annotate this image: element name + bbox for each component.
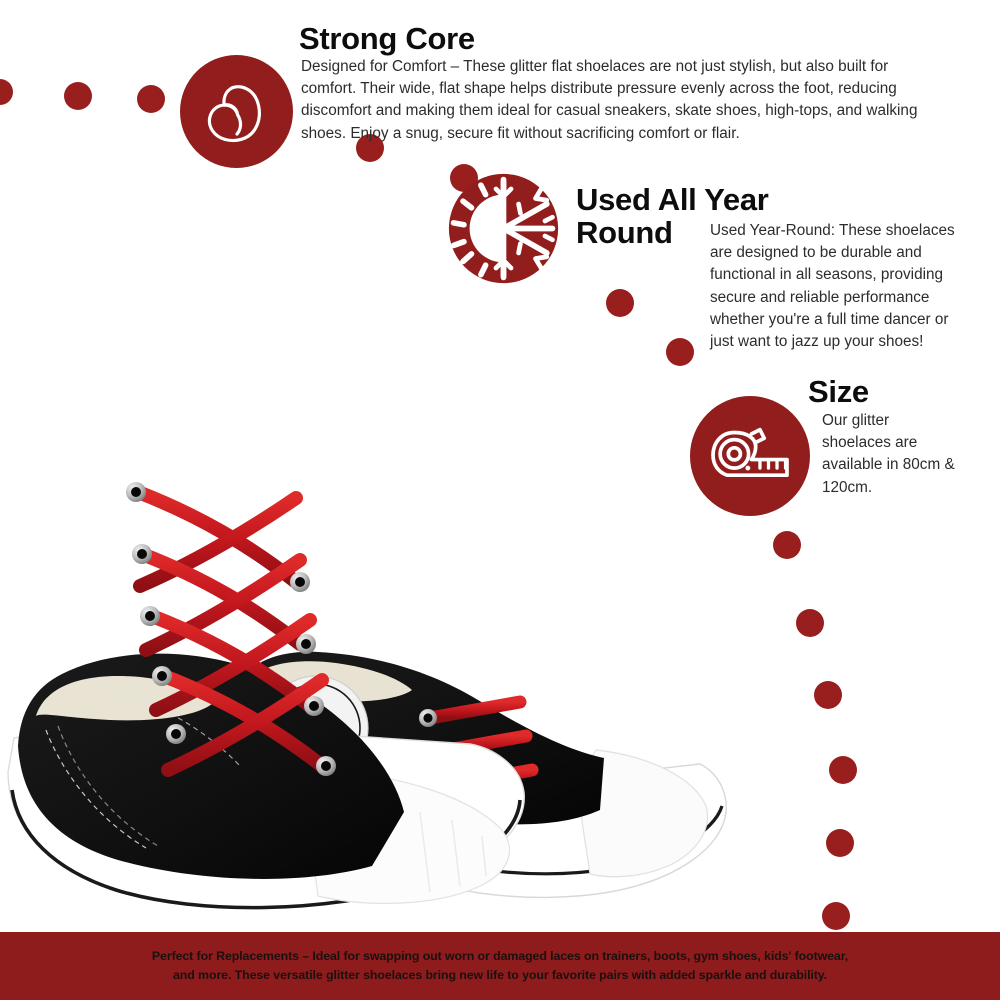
decorative-dot	[606, 289, 634, 317]
flexed-bicep-icon	[199, 74, 275, 150]
decorative-dot	[796, 609, 824, 637]
decorative-dot	[829, 756, 857, 784]
feature-icon-size	[690, 396, 810, 516]
feature-body-size: Our glitter shoelaces are available in 8…	[822, 410, 962, 499]
product-photo-sneakers	[0, 320, 770, 920]
infographic-canvas: Strong Core Designed for Comfort – These…	[0, 0, 1000, 1000]
feature-icon-strong-core	[180, 55, 293, 168]
feature-title-size: Size	[808, 375, 869, 408]
decorative-dot	[64, 82, 92, 110]
feature-body-used-all-year-round: Used Year-Round: These shoelaces are des…	[710, 220, 972, 353]
tape-measure-icon	[707, 424, 793, 488]
decorative-dot	[137, 85, 165, 113]
decorative-dot	[826, 829, 854, 857]
decorative-dot	[814, 681, 842, 709]
decorative-dot	[0, 79, 13, 105]
decorative-dot	[773, 531, 801, 559]
sun-snowflake-all-seasons-icon	[447, 172, 560, 285]
decorative-dot	[822, 902, 850, 930]
banner-text: Perfect for Replacements – Ideal for swa…	[150, 947, 850, 985]
feature-title-strong-core: Strong Core	[299, 22, 475, 55]
bottom-banner: Perfect for Replacements – Ideal for swa…	[0, 932, 1000, 1000]
feature-body-strong-core: Designed for Comfort – These glitter fla…	[301, 56, 923, 145]
feature-icon-used-all-year-round	[447, 172, 560, 285]
